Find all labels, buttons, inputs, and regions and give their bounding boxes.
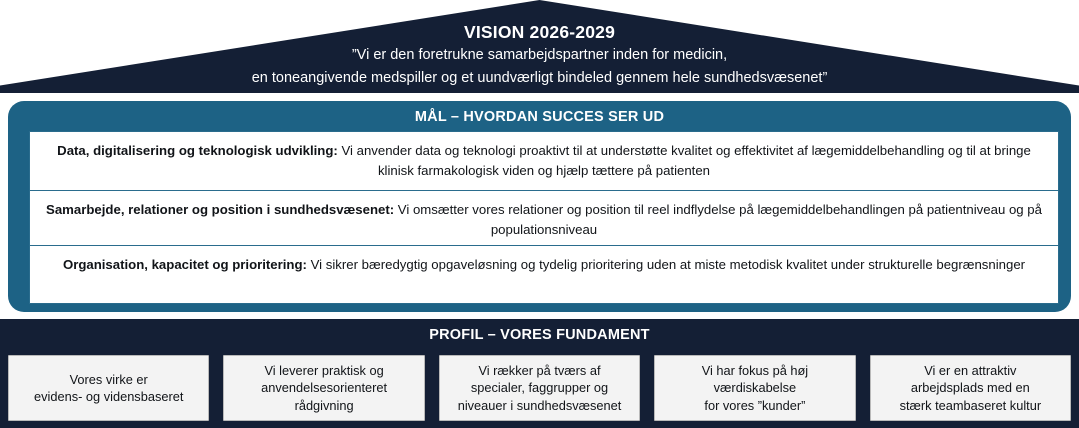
vision-quote-line-2: en toneangivende medspiller og et uundvæ…: [0, 68, 1079, 89]
goal-label: Data, digitalisering og teknologisk udvi…: [57, 143, 338, 158]
profile-panel: PROFIL – VORES FUNDAMENT Vores virke ere…: [0, 319, 1079, 428]
strategy-poster: VISION 2026-2029 ”Vi er den foretrukne s…: [0, 0, 1079, 428]
vision-title: VISION 2026-2029: [0, 22, 1079, 43]
goal-row: Samarbejde, relationer og position i sun…: [30, 190, 1058, 245]
profile-header-title: PROFIL – VORES FUNDAMENT: [0, 319, 1079, 350]
vision-roof: VISION 2026-2029 ”Vi er den foretrukne s…: [0, 0, 1079, 93]
goals-header-title: MÅL – HVORDAN SUCCES SER UD: [12, 105, 1067, 129]
goals-panel: MÅL – HVORDAN SUCCES SER UD Data, digita…: [8, 101, 1071, 312]
profile-card: Vores virke erevidens- og vidensbaseret: [8, 355, 209, 421]
goal-row: Data, digitalisering og teknologisk udvi…: [30, 132, 1058, 190]
goal-text: Vi omsætter vores relationer og position…: [394, 202, 1042, 237]
goal-label: Organisation, kapacitet og prioritering:: [63, 257, 307, 272]
goal-row: Organisation, kapacitet og prioritering:…: [30, 245, 1058, 303]
vision-text-block: VISION 2026-2029 ”Vi er den foretrukne s…: [0, 22, 1079, 89]
profile-card-list: Vores virke erevidens- og vidensbaseret …: [8, 355, 1071, 421]
profile-card: Vi har fokus på højværdiskabelsefor vore…: [654, 355, 855, 421]
goals-list: Data, digitalisering og teknologisk udvi…: [29, 131, 1059, 304]
profile-card: Vi leverer praktisk oganvendelsesoriente…: [223, 355, 424, 421]
vision-quote-line-1: ”Vi er den foretrukne samarbejdspartner …: [0, 45, 1079, 66]
profile-card: Vi er en attraktivarbejdsplads med enstæ…: [870, 355, 1071, 421]
profile-card: Vi rækker på tværs afspecialer, faggrupp…: [439, 355, 640, 421]
goal-label: Samarbejde, relationer og position i sun…: [46, 202, 394, 217]
goal-text: Vi sikrer bæredygtig opgaveløsning og ty…: [307, 257, 1025, 272]
goal-text: Vi anvender data og teknologi proaktivt …: [338, 143, 1031, 178]
